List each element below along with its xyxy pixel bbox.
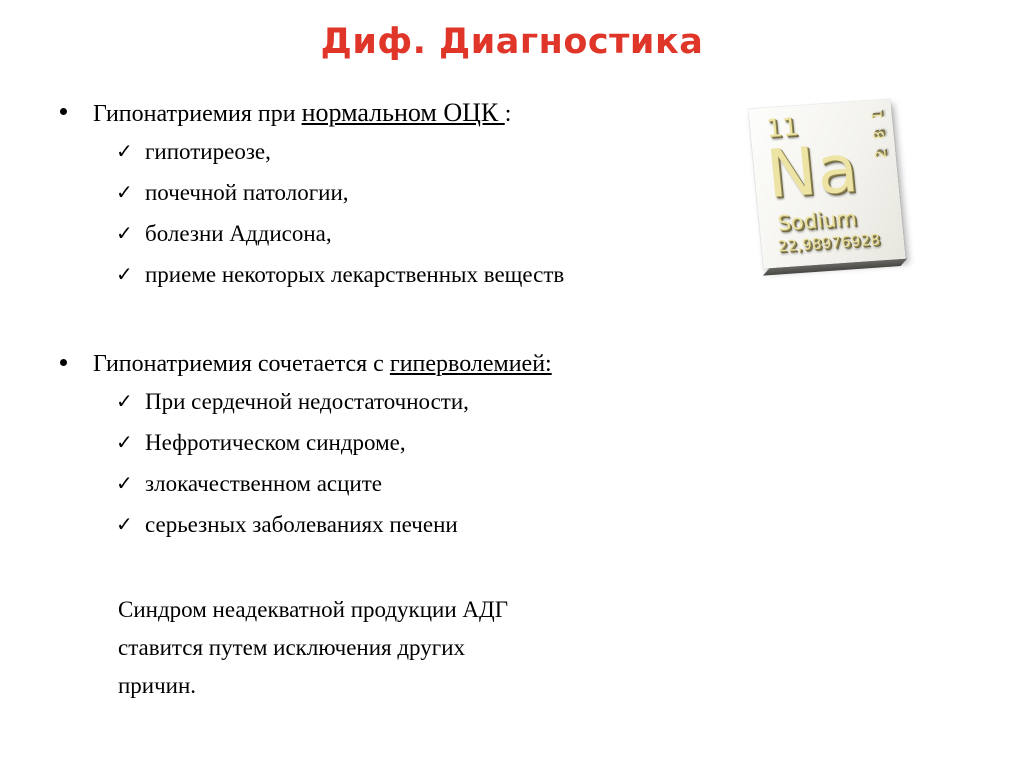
group-spacer <box>0 295 760 347</box>
list-item-label: серьезных заболеваниях печени <box>145 512 458 537</box>
check-icon: ✓ <box>116 504 133 545</box>
list-item: ✓ серьезных заболеваниях печени <box>0 504 760 545</box>
periodic-tile-inner: 11 2 8 1 Na Sodium 22,98976928 <box>748 99 905 268</box>
list-item-label: Нефротическом синдроме, <box>145 430 406 455</box>
list-item-label: гипотиреозе, <box>145 139 271 164</box>
check-icon: ✓ <box>116 254 133 295</box>
list-item: ✓ Нефротическом синдроме, <box>0 422 760 463</box>
bullet-item-2: Гипонатриемия сочетается с гиперволемией… <box>0 347 760 381</box>
list-item-label: При сердечной недостаточности, <box>145 389 469 414</box>
electron-shells-label: 2 8 1 <box>869 108 890 160</box>
bullet-item-1-suffix: : <box>505 101 512 127</box>
list-item-label: почечной патологии, <box>145 180 349 205</box>
sodium-element-image: 11 2 8 1 Na Sodium 22,98976928 <box>748 98 920 280</box>
slide-canvas: Диф. Диагностика Гипонатриемия при норма… <box>0 0 1024 768</box>
list-item: ✓ приеме некоторых лекарственных веществ <box>0 254 760 295</box>
list-item: ✓ гипотиреозе, <box>0 131 760 172</box>
closing-paragraph: Синдром неадекватной продукции АДГ стави… <box>0 591 760 705</box>
check-icon: ✓ <box>116 172 133 213</box>
list-item-label: приеме некоторых лекарственных веществ <box>145 262 564 287</box>
list-item-label: злокачественном асците <box>145 471 382 496</box>
bullet-dot-icon <box>60 359 67 366</box>
list-item: ✓ болезни Аддисона, <box>0 213 760 254</box>
bullet-item-1-prefix: Гипонатриемия при <box>93 101 302 127</box>
list-item: ✓ При сердечной недостаточности, <box>0 381 760 422</box>
bullet-item-1-text: Гипонатриемия при нормальном ОЦК : <box>93 101 511 127</box>
slide-body: Гипонатриемия при нормальном ОЦК : ✓ гип… <box>0 96 760 705</box>
bullet-item-2-underlined: гиперволемией: <box>390 351 552 377</box>
bullet-item-1-underlined: нормальном ОЦК <box>302 98 505 127</box>
bullet-dot-icon <box>60 108 67 115</box>
paragraph-spacer <box>0 545 760 591</box>
element-symbol-label: Na <box>763 130 862 213</box>
check-icon: ✓ <box>116 381 133 422</box>
check-icon: ✓ <box>116 463 133 504</box>
bullet-item-2-prefix: Гипонатриемия сочетается с <box>93 351 390 377</box>
element-name-label: Sodium <box>776 206 857 235</box>
check-icon: ✓ <box>116 422 133 463</box>
list-item: ✓ почечной патологии, <box>0 172 760 213</box>
bullet-item-1: Гипонатриемия при нормальном ОЦК : <box>0 96 760 131</box>
check-icon: ✓ <box>116 213 133 254</box>
periodic-tile-plate: 11 2 8 1 Na Sodium 22,98976928 <box>748 99 905 268</box>
list-item: ✓ злокачественном асците <box>0 463 760 504</box>
page-title: Диф. Диагностика <box>0 22 1024 62</box>
check-icon: ✓ <box>116 131 133 172</box>
list-item-label: болезни Аддисона, <box>145 221 332 246</box>
bullet-item-2-text: Гипонатриемия сочетается с гиперволемией… <box>93 351 552 377</box>
